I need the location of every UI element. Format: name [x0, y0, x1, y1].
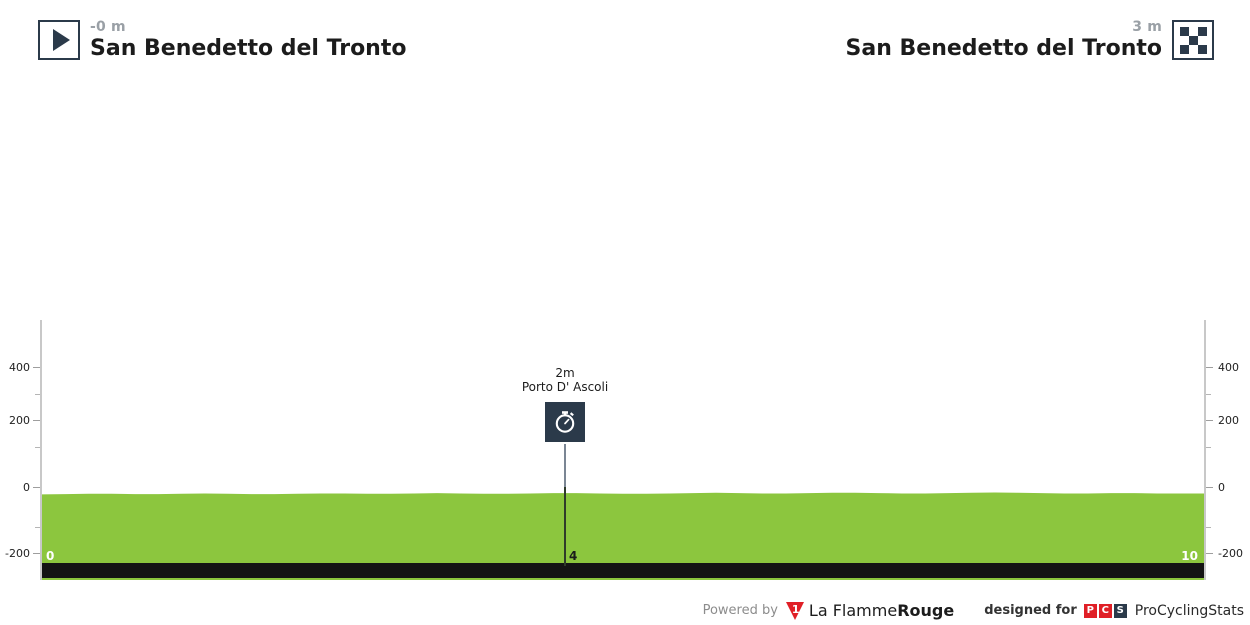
- y-label-right-400: 400: [1218, 362, 1239, 373]
- y-tick-left-400: [33, 367, 40, 368]
- y-label-left-0: 0: [23, 482, 30, 493]
- powered-by-label: Powered by: [703, 603, 778, 618]
- x-label-end: 10: [1181, 550, 1198, 562]
- stopwatch-glyph: [552, 409, 578, 435]
- terrain-svg: [42, 320, 1204, 580]
- pcs-wordmark: ProCyclingStats: [1135, 603, 1244, 619]
- y-tick-left-200: [33, 420, 40, 421]
- sprint-name: Porto D' Ascoli: [522, 380, 608, 394]
- y-axis-right: [1204, 320, 1206, 580]
- elevation-profile-chart: 400 200 0 -200 400 200 0 -200 0 10: [0, 0, 1250, 600]
- sprint-km-label: 4: [569, 550, 577, 562]
- y-tick-left-100: [35, 447, 40, 448]
- y-tick-right-400: [1206, 367, 1213, 368]
- pcs-box-c: C: [1099, 604, 1112, 618]
- flamme-rouge-word-la: La Flamme: [809, 601, 897, 620]
- y-label-left-400: 400: [9, 362, 30, 373]
- y-tick-left-300: [35, 394, 40, 395]
- y-tick-right-200: [1206, 420, 1213, 421]
- powered-by-group: Powered by 1 La FlammeRouge: [703, 601, 955, 620]
- y-label-left-200: 200: [9, 415, 30, 426]
- designed-for-group: designed for P C S ProCyclingStats: [984, 603, 1244, 619]
- x-label-start: 0: [46, 550, 54, 562]
- stopwatch-icon: [545, 402, 585, 442]
- pcs-box-s: S: [1114, 604, 1127, 618]
- y-tick-right-m100: [1206, 527, 1211, 528]
- y-label-right-200: 200: [1218, 415, 1239, 426]
- profile-footer: Powered by 1 La FlammeRouge designed for…: [0, 596, 1250, 625]
- y-tick-right-m200: [1206, 553, 1213, 554]
- plot-area: 400 200 0 -200 400 200 0 -200 0 10: [40, 320, 1206, 580]
- road-strip: [42, 563, 1204, 578]
- flamme-rouge-word-rouge: Rouge: [897, 601, 954, 620]
- y-tick-left-m100: [35, 527, 40, 528]
- designed-for-label: designed for: [984, 603, 1077, 618]
- flamme-rouge-wordmark: La FlammeRouge: [809, 601, 954, 620]
- pcs-box-p: P: [1084, 604, 1097, 618]
- y-label-left-m200: -200: [5, 548, 30, 559]
- flamme-rouge-icon: 1: [786, 602, 804, 620]
- y-label-right-m200: -200: [1218, 548, 1243, 559]
- flamme-rouge-badge-number: 1: [792, 603, 798, 616]
- pcs-logo-icon: P C S: [1084, 604, 1129, 618]
- y-tick-left-m200: [33, 553, 40, 554]
- terrain-area: [42, 320, 1204, 580]
- y-tick-right-0: [1206, 487, 1213, 488]
- y-tick-right-100: [1206, 447, 1211, 448]
- y-label-right-0: 0: [1218, 482, 1225, 493]
- y-tick-right-300: [1206, 394, 1211, 395]
- sprint-guide-line-lower: [564, 487, 566, 566]
- sprint-altitude: 2m: [522, 366, 608, 380]
- y-tick-left-0: [33, 487, 40, 488]
